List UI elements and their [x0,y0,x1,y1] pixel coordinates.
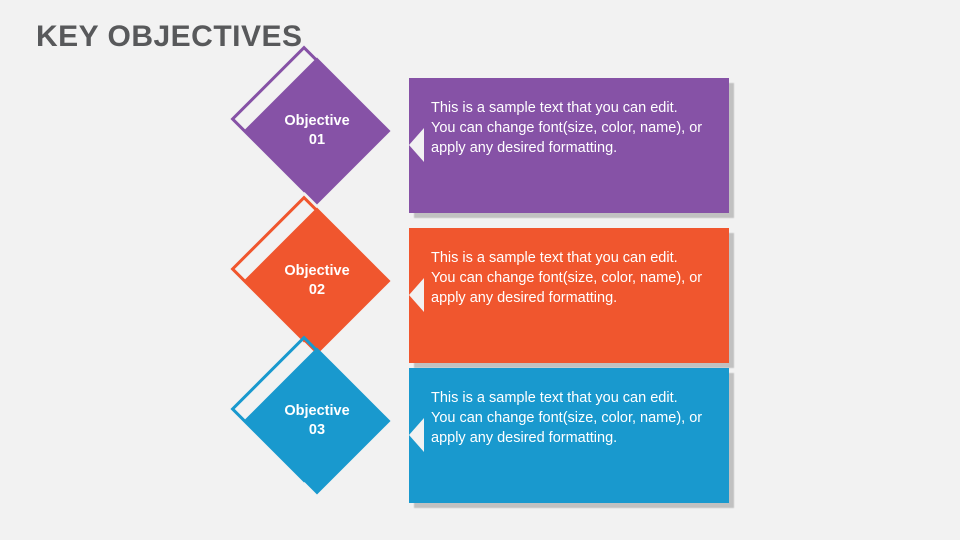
panel-arrow-2 [409,278,424,312]
objective-diamond-3[interactable]: Objective 03 [238,357,398,517]
page-title: KEY OBJECTIVES [36,20,303,54]
objective-body-2: This is a sample text that you can edit.… [431,248,705,308]
objective-body-3: This is a sample text that you can edit.… [431,388,705,448]
objective-body-1: This is a sample text that you can edit.… [431,98,705,158]
diamond-fill-2 [243,207,390,354]
panel-arrow-3 [409,418,424,452]
diamond-fill-1 [243,57,390,204]
objective-panel-3[interactable]: This is a sample text that you can edit.… [409,368,729,503]
panel-arrow-1 [409,128,424,162]
objective-panel-2[interactable]: This is a sample text that you can edit.… [409,228,729,363]
slide-canvas: KEY OBJECTIVES This is a sample text tha… [0,0,960,540]
objective-row-2: This is a sample text that you can edit.… [0,225,960,375]
objective-panel-1[interactable]: This is a sample text that you can edit.… [409,78,729,213]
objective-row-1: This is a sample text that you can edit.… [0,75,960,225]
objective-diamond-1[interactable]: Objective 01 [238,67,398,227]
diamond-fill-3 [243,347,390,494]
objective-row-3: This is a sample text that you can edit.… [0,365,960,515]
